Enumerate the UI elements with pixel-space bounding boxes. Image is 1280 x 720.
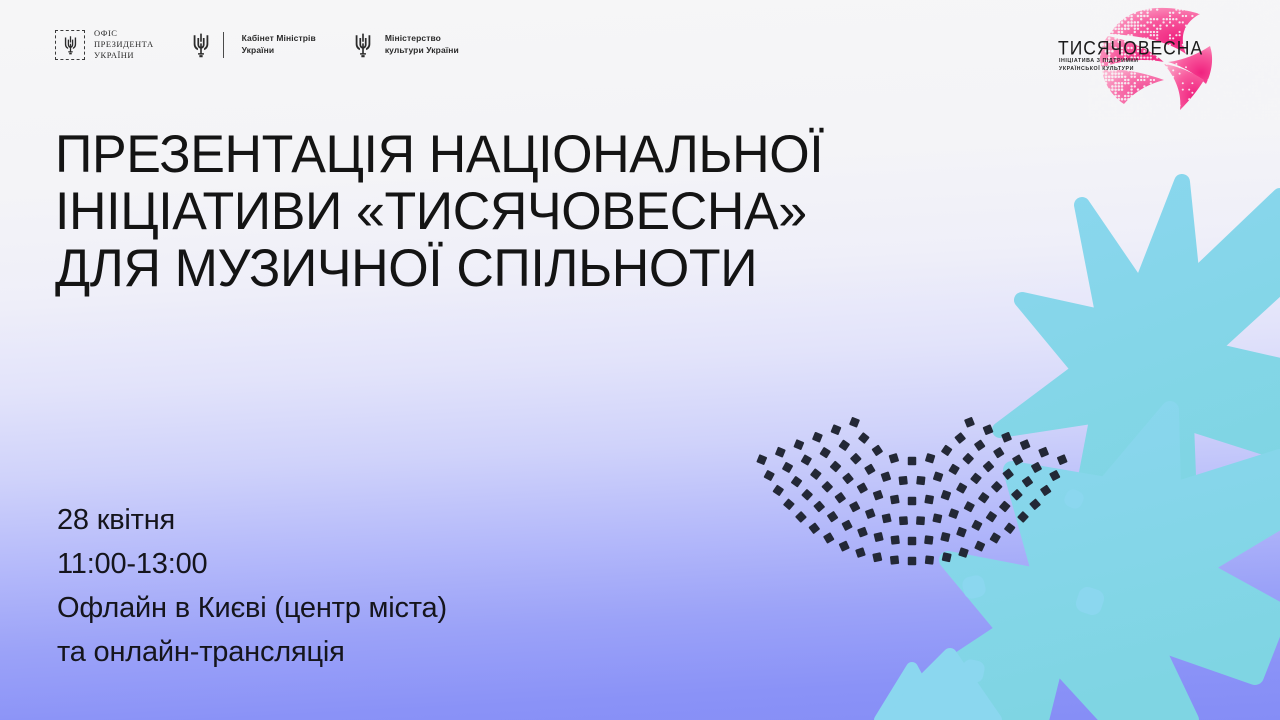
seat-dot	[775, 447, 786, 458]
headline-line-3: ДЛЯ МУЗИЧНОЇ СПІЛЬНОТИ	[55, 240, 823, 297]
seat-dot	[1022, 476, 1034, 488]
halftone-dot	[1098, 91, 1101, 94]
halftone-dot	[1236, 0, 1239, 1]
halftone-dot	[1262, 79, 1264, 81]
halftone-dot	[1249, 85, 1251, 87]
halftone-dot	[1114, 95, 1117, 98]
halftone-dot	[1133, 0, 1136, 1]
halftone-dot	[1255, 2, 1258, 5]
halftone-dot	[1146, 2, 1149, 5]
seat-dot	[1040, 485, 1052, 497]
halftone-dot	[1089, 88, 1092, 91]
halftone-dot	[1255, 37, 1257, 39]
halftone-dot	[1098, 117, 1101, 120]
seat-dot	[850, 453, 862, 465]
seat-dot	[971, 520, 982, 531]
halftone-dot	[1095, 0, 1098, 1]
halftone-dot	[1252, 88, 1254, 90]
seat-dot	[958, 547, 969, 558]
halftone-dot	[1207, 101, 1209, 103]
halftone-dot	[1236, 111, 1238, 113]
halftone-dot	[1268, 82, 1270, 84]
halftone-dot	[1166, 117, 1168, 119]
halftone-dot	[1265, 0, 1268, 1]
halftone-dot	[1204, 117, 1206, 119]
seat-dot	[857, 482, 869, 494]
halftone-dot	[1121, 85, 1124, 88]
halftone-dot	[1265, 15, 1268, 18]
tryzub-icon	[350, 30, 376, 60]
halftone-dot	[1252, 85, 1254, 87]
star-bottom-right-shape	[900, 410, 1280, 720]
seat-dot	[954, 432, 966, 444]
halftone-dot	[1262, 40, 1264, 42]
halftone-dot	[1271, 56, 1273, 58]
seat-dot	[801, 489, 813, 501]
halftone-dot	[1230, 108, 1232, 110]
halftone-dot	[1265, 47, 1267, 49]
halftone-dot	[1233, 95, 1235, 97]
halftone-dot	[1258, 66, 1260, 68]
halftone-dot	[1118, 95, 1121, 98]
halftone-dot	[1268, 12, 1271, 15]
halftone-dot	[1274, 104, 1277, 107]
halftone-dot	[1105, 95, 1108, 98]
halftone-dot	[1265, 69, 1267, 71]
halftone-dot	[1239, 2, 1241, 4]
halftone-dot	[1146, 117, 1148, 119]
halftone-dot	[1124, 98, 1127, 101]
halftone-dot	[1118, 85, 1121, 88]
halftone-dot	[1108, 2, 1111, 5]
seat-dot	[974, 541, 985, 552]
halftone-dot	[1271, 2, 1274, 5]
halftone-dot	[1140, 101, 1142, 103]
halftone-dot	[1271, 101, 1274, 104]
seat-dot	[982, 460, 994, 472]
seat-dot	[793, 439, 804, 450]
halftone-dot	[1223, 117, 1225, 119]
halftone-dot	[1274, 5, 1277, 8]
seat-dot	[964, 417, 975, 428]
halftone-dot	[1146, 114, 1148, 116]
halftone-dot	[1127, 114, 1130, 117]
halftone-dot	[1108, 88, 1111, 91]
halftone-dot	[1166, 114, 1168, 116]
halftone-dot	[1242, 88, 1244, 90]
halftone-dot	[1162, 0, 1165, 1]
halftone-dot	[1130, 0, 1133, 1]
seat-dot	[956, 482, 968, 494]
halftone-dot	[1268, 79, 1270, 81]
seat-dot	[890, 495, 900, 505]
halftone-dot	[1153, 0, 1156, 1]
halftone-dot	[1089, 0, 1092, 1]
government-logo-bar: ОФІС ПРЕЗИДЕНТА УКРАЇНИ Кабінет Міністрі…	[55, 28, 459, 62]
halftone-dot	[1127, 0, 1130, 1]
halftone-dot	[1146, 0, 1149, 1]
seat-dot	[964, 501, 975, 512]
logo-ministry-of-culture: Міністерство культури України	[350, 30, 459, 60]
halftone-dot	[1255, 5, 1258, 8]
halftone-dot	[1114, 88, 1117, 91]
halftone-dot	[1255, 117, 1257, 119]
seat-dot	[908, 497, 917, 506]
halftone-dot	[1130, 108, 1133, 111]
halftone-dot	[1274, 117, 1277, 120]
halftone-dot	[1274, 76, 1276, 78]
halftone-dot	[1255, 40, 1257, 42]
halftone-dot	[1140, 108, 1142, 110]
halftone-dot	[1265, 63, 1267, 65]
halftone-dot	[1249, 0, 1252, 1]
halftone-dot	[1188, 98, 1190, 100]
seat-dot	[881, 471, 892, 482]
seat-dot	[834, 492, 846, 504]
halftone-dot	[1258, 63, 1260, 65]
halftone-dot	[1127, 98, 1129, 100]
logo-divider	[223, 32, 224, 58]
seat-dot	[908, 557, 917, 566]
halftone-dot	[1169, 0, 1171, 1]
halftone-dot	[1271, 82, 1273, 84]
poster-canvas: ОФІС ПРЕЗИДЕНТА УКРАЇНИ Кабінет Міністрі…	[0, 0, 1280, 720]
halftone-dot	[1252, 101, 1254, 103]
halftone-dot	[1271, 11, 1274, 14]
seat-dot	[795, 511, 807, 523]
halftone-dot	[1226, 117, 1228, 119]
halftone-dot	[1258, 101, 1260, 103]
halftone-dot	[1172, 2, 1174, 4]
halftone-dot	[1262, 111, 1264, 113]
halftone-dot	[1098, 104, 1101, 107]
halftone-dot	[1268, 18, 1271, 21]
halftone-dot	[1175, 2, 1177, 4]
halftone-dot	[1262, 2, 1265, 5]
seat-dot	[842, 472, 854, 484]
halftone-dot	[1246, 2, 1249, 5]
halftone-dot	[1153, 92, 1155, 94]
halftone-dot	[1268, 72, 1270, 74]
halftone-dot	[1095, 104, 1098, 107]
halftone-dot	[1130, 88, 1132, 90]
halftone-dot	[1150, 111, 1152, 113]
seat-dot	[830, 424, 841, 435]
halftone-dot	[1185, 2, 1187, 4]
halftone-dot	[1092, 114, 1095, 117]
halftone-dot	[1101, 95, 1104, 98]
seat-dot	[871, 445, 883, 457]
halftone-dot	[1265, 108, 1267, 110]
halftone-dot	[1204, 114, 1206, 116]
halftone-dot	[1098, 98, 1101, 101]
halftone-dot	[1265, 53, 1267, 55]
event-location: Офлайн в Києві (центр міста)	[57, 586, 447, 630]
halftone-dot	[1255, 76, 1257, 78]
event-date: 28 квітня	[57, 498, 447, 542]
seat-dot	[942, 552, 952, 562]
halftone-dot	[1274, 40, 1277, 43]
halftone-dot	[1137, 92, 1139, 94]
halftone-dot	[1262, 82, 1264, 84]
halftone-dot	[1201, 117, 1203, 119]
halftone-dot	[1268, 47, 1270, 49]
seat-dot	[932, 513, 942, 523]
tryzub-glyph	[63, 35, 78, 55]
halftone-dot	[1262, 15, 1265, 18]
halftone-dot	[1153, 98, 1155, 100]
halftone-dot	[1271, 0, 1274, 1]
halftone-dot	[1089, 104, 1092, 107]
halftone-dot	[1198, 101, 1200, 103]
halftone-dot	[1220, 2, 1222, 4]
halftone-dot	[1191, 108, 1193, 110]
halftone-dot	[1274, 53, 1276, 55]
halftone-dot	[1258, 5, 1261, 8]
seat-dot	[1017, 511, 1029, 523]
halftone-dot	[1095, 2, 1098, 5]
halftone-dot	[1169, 98, 1171, 100]
halftone-dot	[1101, 2, 1104, 5]
star-small-bottom	[880, 668, 940, 720]
halftone-dot	[1258, 0, 1261, 1]
halftone-dot	[1223, 2, 1225, 4]
event-time: 11:00-13:00	[57, 542, 447, 586]
halftone-dot	[1268, 2, 1271, 5]
halftone-dot	[1233, 101, 1235, 103]
halftone-dot	[1268, 98, 1270, 100]
halftone-dot	[1258, 72, 1260, 74]
halftone-dot	[1249, 111, 1251, 113]
halftone-dot	[1258, 104, 1260, 106]
halftone-dot	[1258, 117, 1260, 119]
seat-dot	[783, 498, 795, 510]
halftone-dot	[1101, 117, 1104, 120]
halftone-dot	[1162, 108, 1164, 110]
halftone-dot	[1114, 111, 1117, 114]
seat-dot	[970, 472, 982, 484]
halftone-dot	[1236, 2, 1238, 4]
seat-dot	[841, 520, 852, 531]
halftone-dot	[1146, 101, 1148, 103]
halftone-dot	[1130, 98, 1132, 100]
halftone-dot	[1159, 104, 1161, 106]
halftone-dot	[1111, 98, 1114, 101]
halftone-dot	[1108, 101, 1111, 104]
halftone-dot	[1262, 60, 1264, 62]
seat-dot	[1020, 439, 1031, 450]
halftone-dot	[1095, 107, 1098, 110]
seat-dot	[812, 432, 823, 443]
seat-dot	[925, 453, 936, 464]
tryzub-glyph	[353, 32, 373, 58]
halftone-dot	[1262, 72, 1264, 74]
halftone-dot	[1198, 0, 1200, 1]
halftone-dot	[1258, 40, 1260, 42]
halftone-dot	[1195, 98, 1197, 100]
halftone-dot	[1089, 91, 1092, 94]
halftone-dot	[1262, 37, 1264, 39]
seat-dot	[916, 516, 925, 525]
halftone-dot	[1265, 37, 1267, 39]
halftone-dot	[1166, 104, 1168, 106]
halftone-dot	[1204, 85, 1206, 87]
seat-dot	[849, 417, 860, 428]
halftone-dot	[1127, 108, 1130, 111]
halftone-dot	[1101, 101, 1104, 104]
halftone-dot	[1117, 2, 1120, 5]
halftone-dot	[1242, 95, 1244, 97]
seat-dot	[982, 424, 993, 435]
halftone-dot	[1233, 108, 1235, 110]
seat-dot	[908, 537, 917, 546]
seat-dot	[873, 490, 884, 501]
halftone-dot	[1249, 95, 1251, 97]
halftone-dot	[1108, 104, 1111, 107]
seat-dot	[823, 532, 835, 544]
seat-dot	[756, 454, 767, 465]
seat-dot	[872, 552, 882, 562]
halftone-dot	[1179, 105, 1181, 107]
halftone-dot	[1153, 111, 1155, 113]
halftone-dot	[1121, 114, 1124, 117]
halftone-dot	[1137, 108, 1139, 110]
seat-dot	[993, 447, 1005, 459]
seat-dot	[989, 532, 1001, 544]
halftone-dot	[1258, 60, 1260, 62]
halftone-dot	[1140, 95, 1142, 97]
halftone-dot	[1271, 31, 1274, 34]
halftone-dot	[1156, 92, 1158, 94]
halftone-dot	[1227, 85, 1229, 87]
halftone-dot	[1255, 85, 1257, 87]
seat-dot	[864, 464, 876, 476]
halftone-dot	[1255, 50, 1257, 52]
halftone-dot	[1252, 2, 1255, 5]
halftone-dot	[1255, 0, 1258, 1]
seat-dot	[1011, 489, 1023, 501]
halftone-dot	[1265, 18, 1268, 21]
halftone-dot	[1268, 34, 1270, 36]
halftone-dot	[1098, 111, 1101, 114]
seat-dot	[890, 535, 899, 544]
halftone-dot	[1194, 2, 1196, 4]
halftone-dot	[1146, 104, 1148, 106]
halftone-dot	[1255, 34, 1257, 36]
seat-dot	[999, 500, 1011, 512]
halftone-dot	[1130, 114, 1133, 117]
halftone-dot	[1271, 21, 1274, 24]
halftone-dot	[1121, 117, 1124, 120]
halftone-dot	[1236, 104, 1238, 106]
halftone-dot	[1143, 104, 1145, 106]
halftone-dot	[1242, 92, 1244, 94]
halftone-dot	[1191, 92, 1193, 94]
halftone-dot	[1191, 111, 1193, 113]
halftone-dot	[1089, 111, 1092, 114]
halftone-dot	[1268, 108, 1271, 111]
seat-dot	[1057, 454, 1068, 465]
halftone-dot	[1265, 79, 1267, 81]
halftone-dot	[1130, 117, 1133, 120]
halftone-dot	[1124, 0, 1127, 1]
halftone-dot	[1268, 40, 1270, 42]
halftone-dot	[1108, 117, 1111, 120]
halftone-dot	[1111, 104, 1114, 107]
halftone-dot	[1214, 89, 1216, 91]
halftone-dot	[1201, 98, 1203, 100]
halftone-dot	[1089, 2, 1092, 5]
halftone-dot	[1095, 101, 1098, 104]
tryzub-icon	[55, 30, 85, 60]
halftone-dot	[1127, 92, 1129, 94]
halftone-dot	[1105, 85, 1108, 88]
halftone-dot	[1220, 114, 1222, 116]
halftone-dot	[1265, 28, 1267, 30]
halftone-dot	[1172, 0, 1174, 1]
halftone-dot	[1236, 101, 1238, 103]
halftone-dot	[1111, 111, 1114, 114]
halftone-dot	[1124, 117, 1127, 120]
halftone-dot	[1255, 114, 1257, 116]
seat-dot	[924, 535, 933, 544]
seat-dot	[865, 508, 876, 519]
halftone-dot	[1127, 111, 1130, 114]
halftone-dot	[1175, 0, 1177, 1]
seat-dot	[956, 527, 967, 538]
halftone-dot	[1095, 114, 1098, 117]
halftone-dot	[1092, 0, 1095, 1]
halftone-dot	[1239, 117, 1241, 119]
seat-dot	[858, 432, 870, 444]
halftone-dot	[1117, 117, 1120, 120]
halftone-dot	[1246, 101, 1248, 103]
halftone-dot	[1134, 85, 1136, 87]
halftone-dot	[1246, 108, 1248, 110]
seat-dot	[898, 476, 907, 485]
halftone-dot	[1178, 2, 1180, 4]
seat-dot	[899, 516, 908, 525]
halftone-dot	[1114, 107, 1117, 110]
halftone-dot	[1108, 114, 1111, 117]
halftone-dot	[1274, 98, 1277, 101]
seat-dot	[763, 470, 775, 482]
halftone-dot	[1111, 117, 1114, 120]
halftone-dot	[1207, 0, 1209, 1]
seat-dot	[1004, 522, 1016, 534]
halftone-dot	[1098, 114, 1101, 117]
halftone-dot	[1268, 104, 1270, 106]
halftone-dot	[1207, 92, 1209, 94]
halftone-dot	[1258, 76, 1260, 78]
halftone-dot	[1121, 0, 1124, 1]
halftone-dot	[1268, 111, 1271, 114]
halftone-dot	[1089, 95, 1092, 98]
halftone-dot	[1105, 101, 1108, 104]
halftone-dot	[1178, 114, 1180, 116]
halftone-dot	[1233, 117, 1235, 119]
halftone-dot	[1249, 2, 1252, 5]
halftone-dot	[1121, 98, 1124, 101]
halftone-dot	[1258, 44, 1260, 46]
halftone-dot	[1121, 88, 1124, 91]
halftone-dot	[1101, 91, 1104, 94]
halftone-dot	[1258, 92, 1260, 94]
halftone-dot	[1271, 53, 1273, 55]
halftone-dot	[1166, 95, 1168, 97]
seat-dot	[813, 500, 825, 512]
halftone-dot	[1271, 8, 1274, 11]
